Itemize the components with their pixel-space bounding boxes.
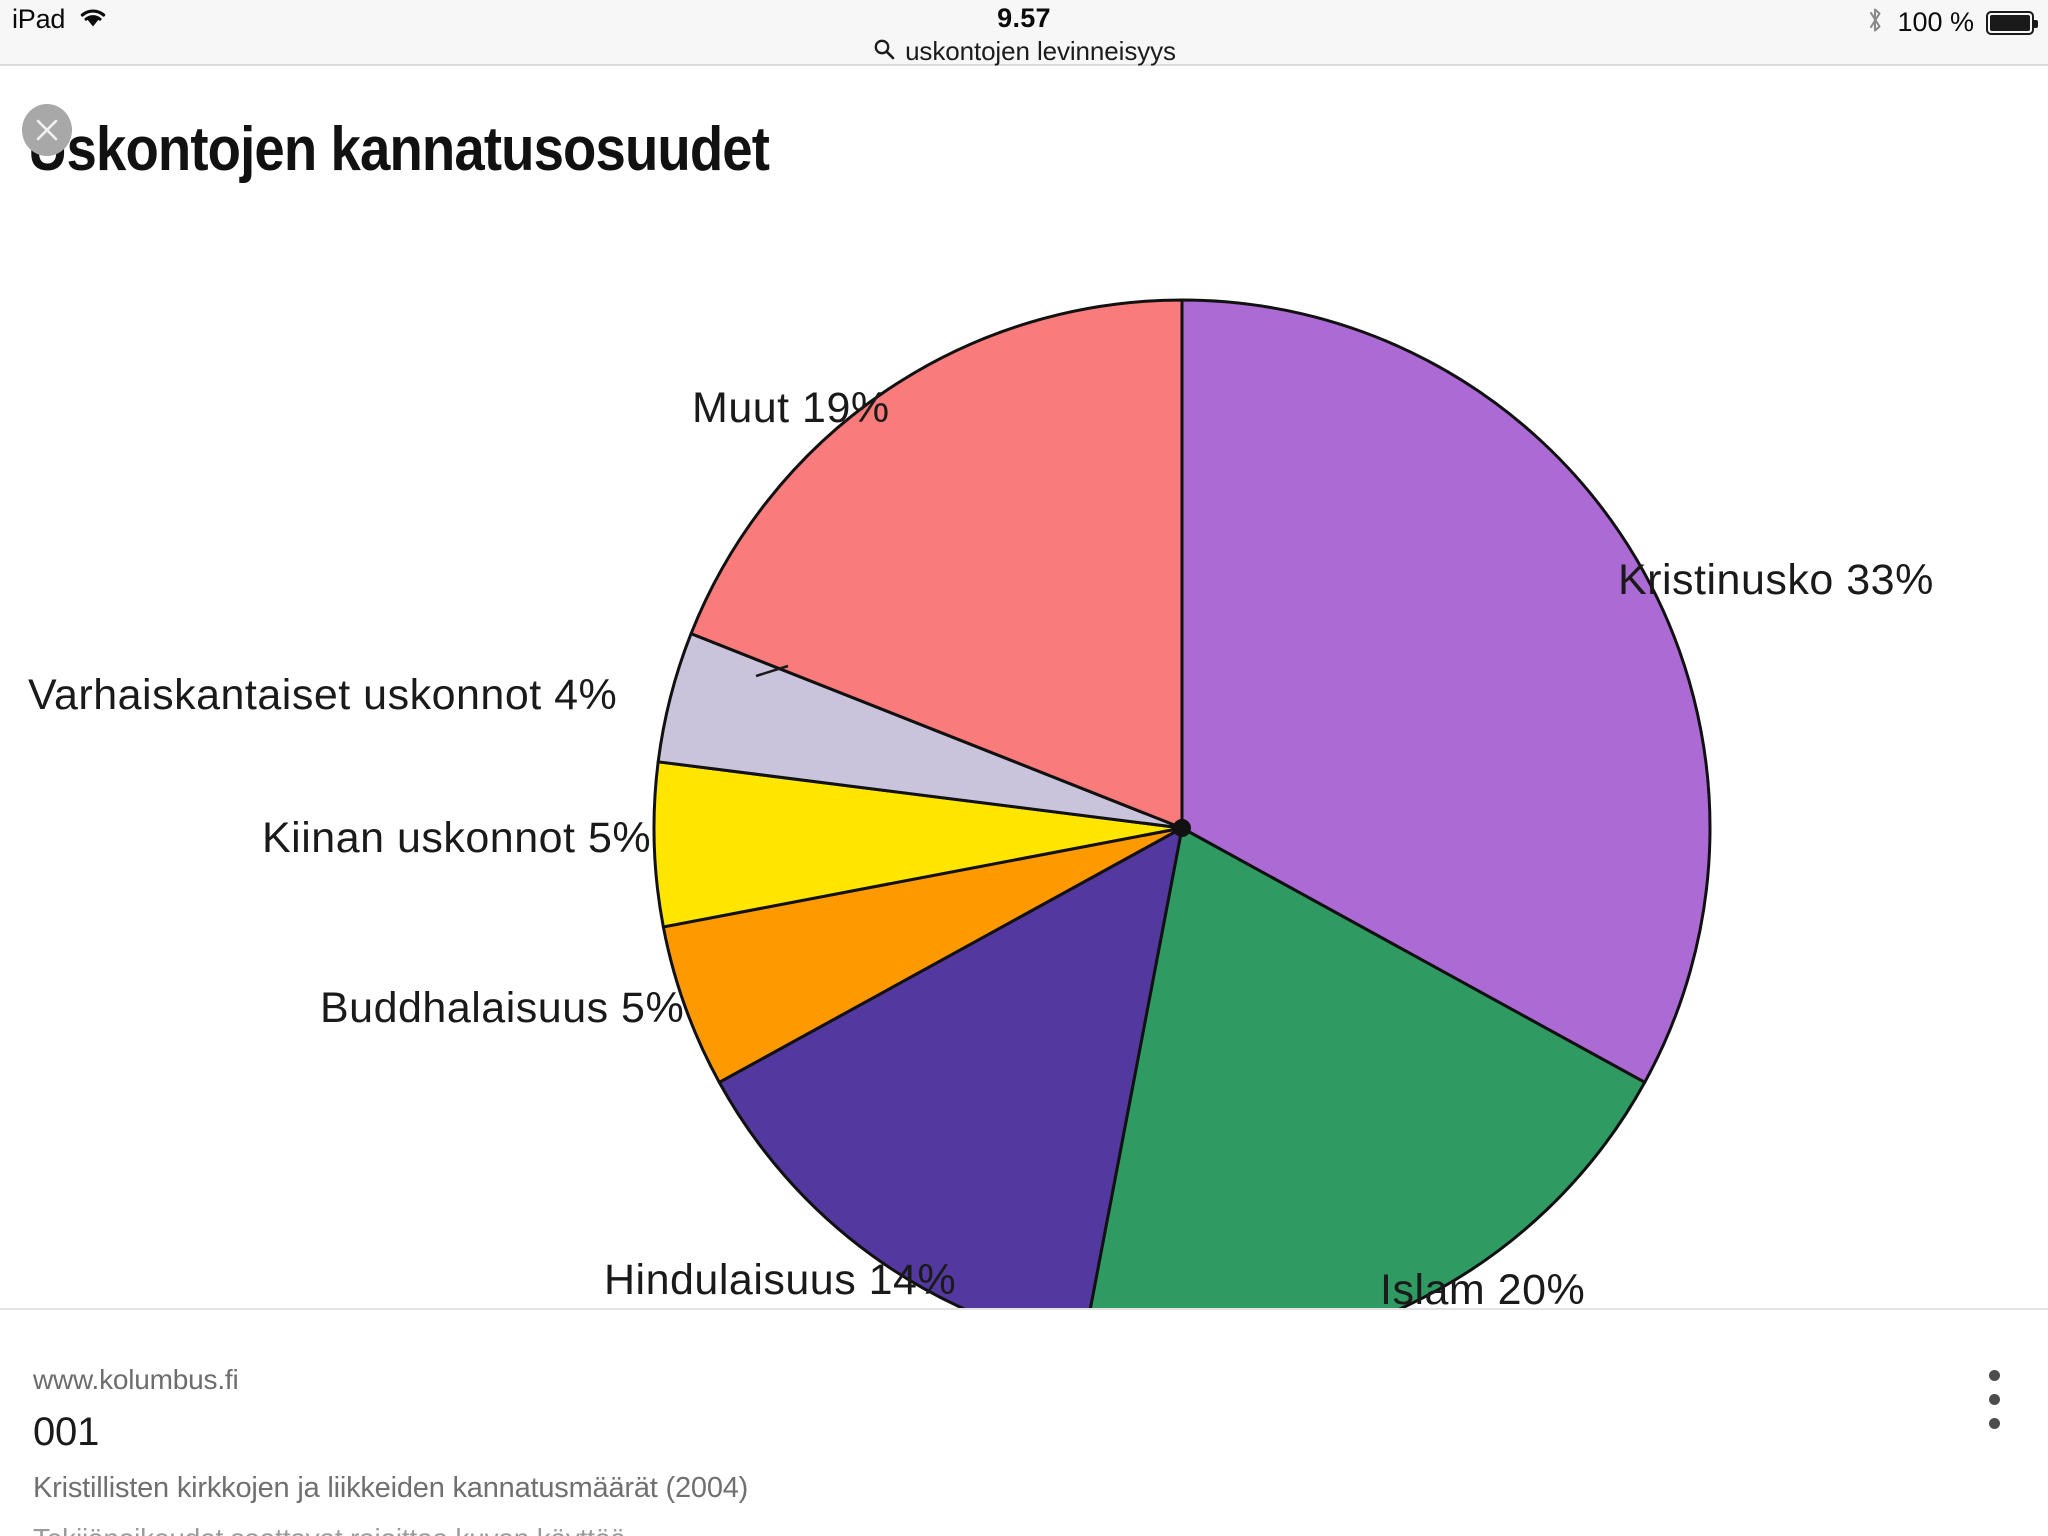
pie-center-dot bbox=[1173, 819, 1191, 837]
status-bar-right: 100 % bbox=[1865, 5, 2034, 40]
pie-label-islam: Islam 20% bbox=[1380, 1266, 1585, 1308]
pie-label-kristinusko: Kristinusko 33% bbox=[1618, 556, 1934, 605]
pie-label-buddhalaisuus: Buddhalaisuus 5% bbox=[320, 984, 684, 1033]
image-description-label: Kristillisten kirkkojen ja liikkeiden ka… bbox=[33, 1472, 748, 1505]
search-query-chip[interactable]: uskontojen levinneisyys bbox=[0, 36, 2048, 67]
kebab-dot-1 bbox=[1989, 1370, 2000, 1381]
close-icon[interactable] bbox=[22, 104, 72, 156]
battery-percent-label: 100 % bbox=[1897, 7, 1974, 38]
pie-chart: Kristinusko 33% Islam 20% Hindulaisuus 1… bbox=[0, 66, 2048, 1308]
image-info-footer: www.kolumbus.fi 001 Kristillisten kirkko… bbox=[0, 1308, 2048, 1536]
status-bar-center: 9.57 uskontojen levinneisyys bbox=[0, 2, 2048, 67]
pie-label-varhaiskantaiset-uskonnot: Varhaiskantaiset uskonnot 4% bbox=[28, 671, 617, 720]
pie-label-muut: Muut 19% bbox=[692, 384, 890, 433]
pie-label-hindulaisuus: Hindulaisuus 14% bbox=[604, 1256, 956, 1305]
battery-fill bbox=[1990, 15, 2030, 31]
kebab-dot-2 bbox=[1989, 1394, 2000, 1405]
kebab-dot-3 bbox=[1989, 1418, 2000, 1429]
pie-label-kiinan-uskonnot: Kiinan uskonnot 5% bbox=[262, 814, 651, 863]
chart-title: Uskontojen kannatusosuudet bbox=[28, 114, 769, 185]
image-name-label: 001 bbox=[33, 1410, 99, 1455]
bluetooth-icon bbox=[1865, 5, 1885, 40]
status-bar: iPad 9.57 uskontojen levinneisyys bbox=[0, 0, 2048, 66]
screen-root: iPad 9.57 uskontojen levinneisyys bbox=[0, 0, 2048, 1536]
search-icon bbox=[872, 37, 896, 66]
search-query-label: uskontojen levinneisyys bbox=[905, 36, 1176, 67]
battery-full-icon bbox=[1986, 11, 2034, 35]
image-viewer: Uskontojen kannatusosuudet Kristinusko 3… bbox=[0, 66, 2048, 1308]
pie-slice-group bbox=[654, 300, 1710, 1308]
clock-label: 9.57 bbox=[0, 2, 2048, 34]
copyright-notice-label: Tekijänoikeudet saattavat rajoittaa kuva… bbox=[33, 1523, 633, 1536]
source-site-label[interactable]: www.kolumbus.fi bbox=[33, 1364, 239, 1396]
kebab-menu-icon[interactable] bbox=[1972, 1354, 2016, 1444]
